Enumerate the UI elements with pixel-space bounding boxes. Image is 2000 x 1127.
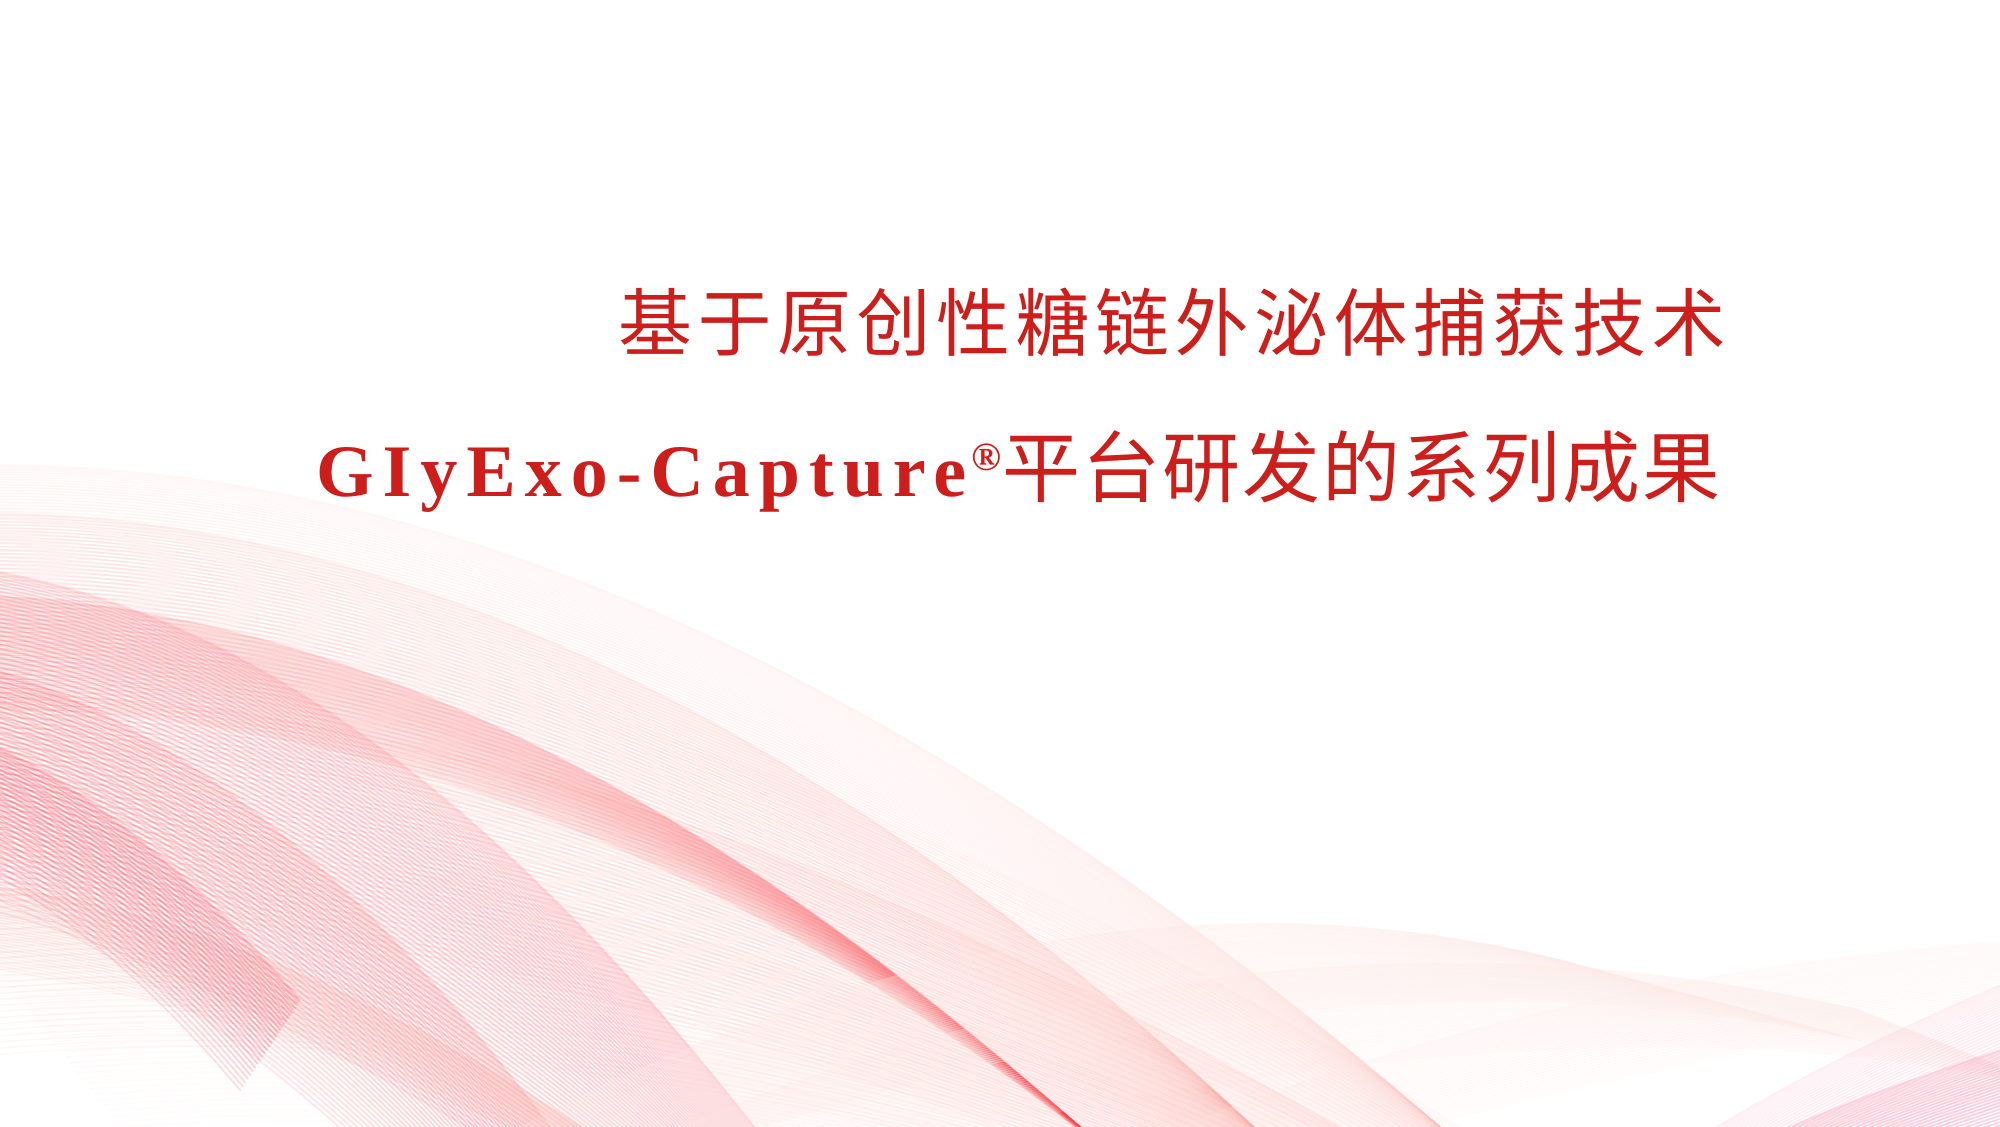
title-line-secondary: GIyExo-Capture®平台研发的系列成果 [316,430,1722,509]
title-block: 基于原创性糖链外泌体捕获技术 GIyExo-Capture®平台研发的系列成果 [0,0,2000,1127]
wave-ribbon-strokes [0,465,2000,1127]
slide-canvas: 基于原创性糖链外泌体捕获技术 GIyExo-Capture®平台研发的系列成果 [0,0,2000,1127]
registered-trademark-icon: ® [971,434,1001,479]
platform-name-latin: GIyExo-Capture [316,431,975,513]
decorative-wave-artwork [0,0,2000,1127]
wave-ribbon-group [0,465,2000,1127]
platform-name-cjk: 平台研发的系列成果 [1002,425,1722,513]
title-line-primary: 基于原创性糖链外泌体捕获技术 [618,288,1731,362]
